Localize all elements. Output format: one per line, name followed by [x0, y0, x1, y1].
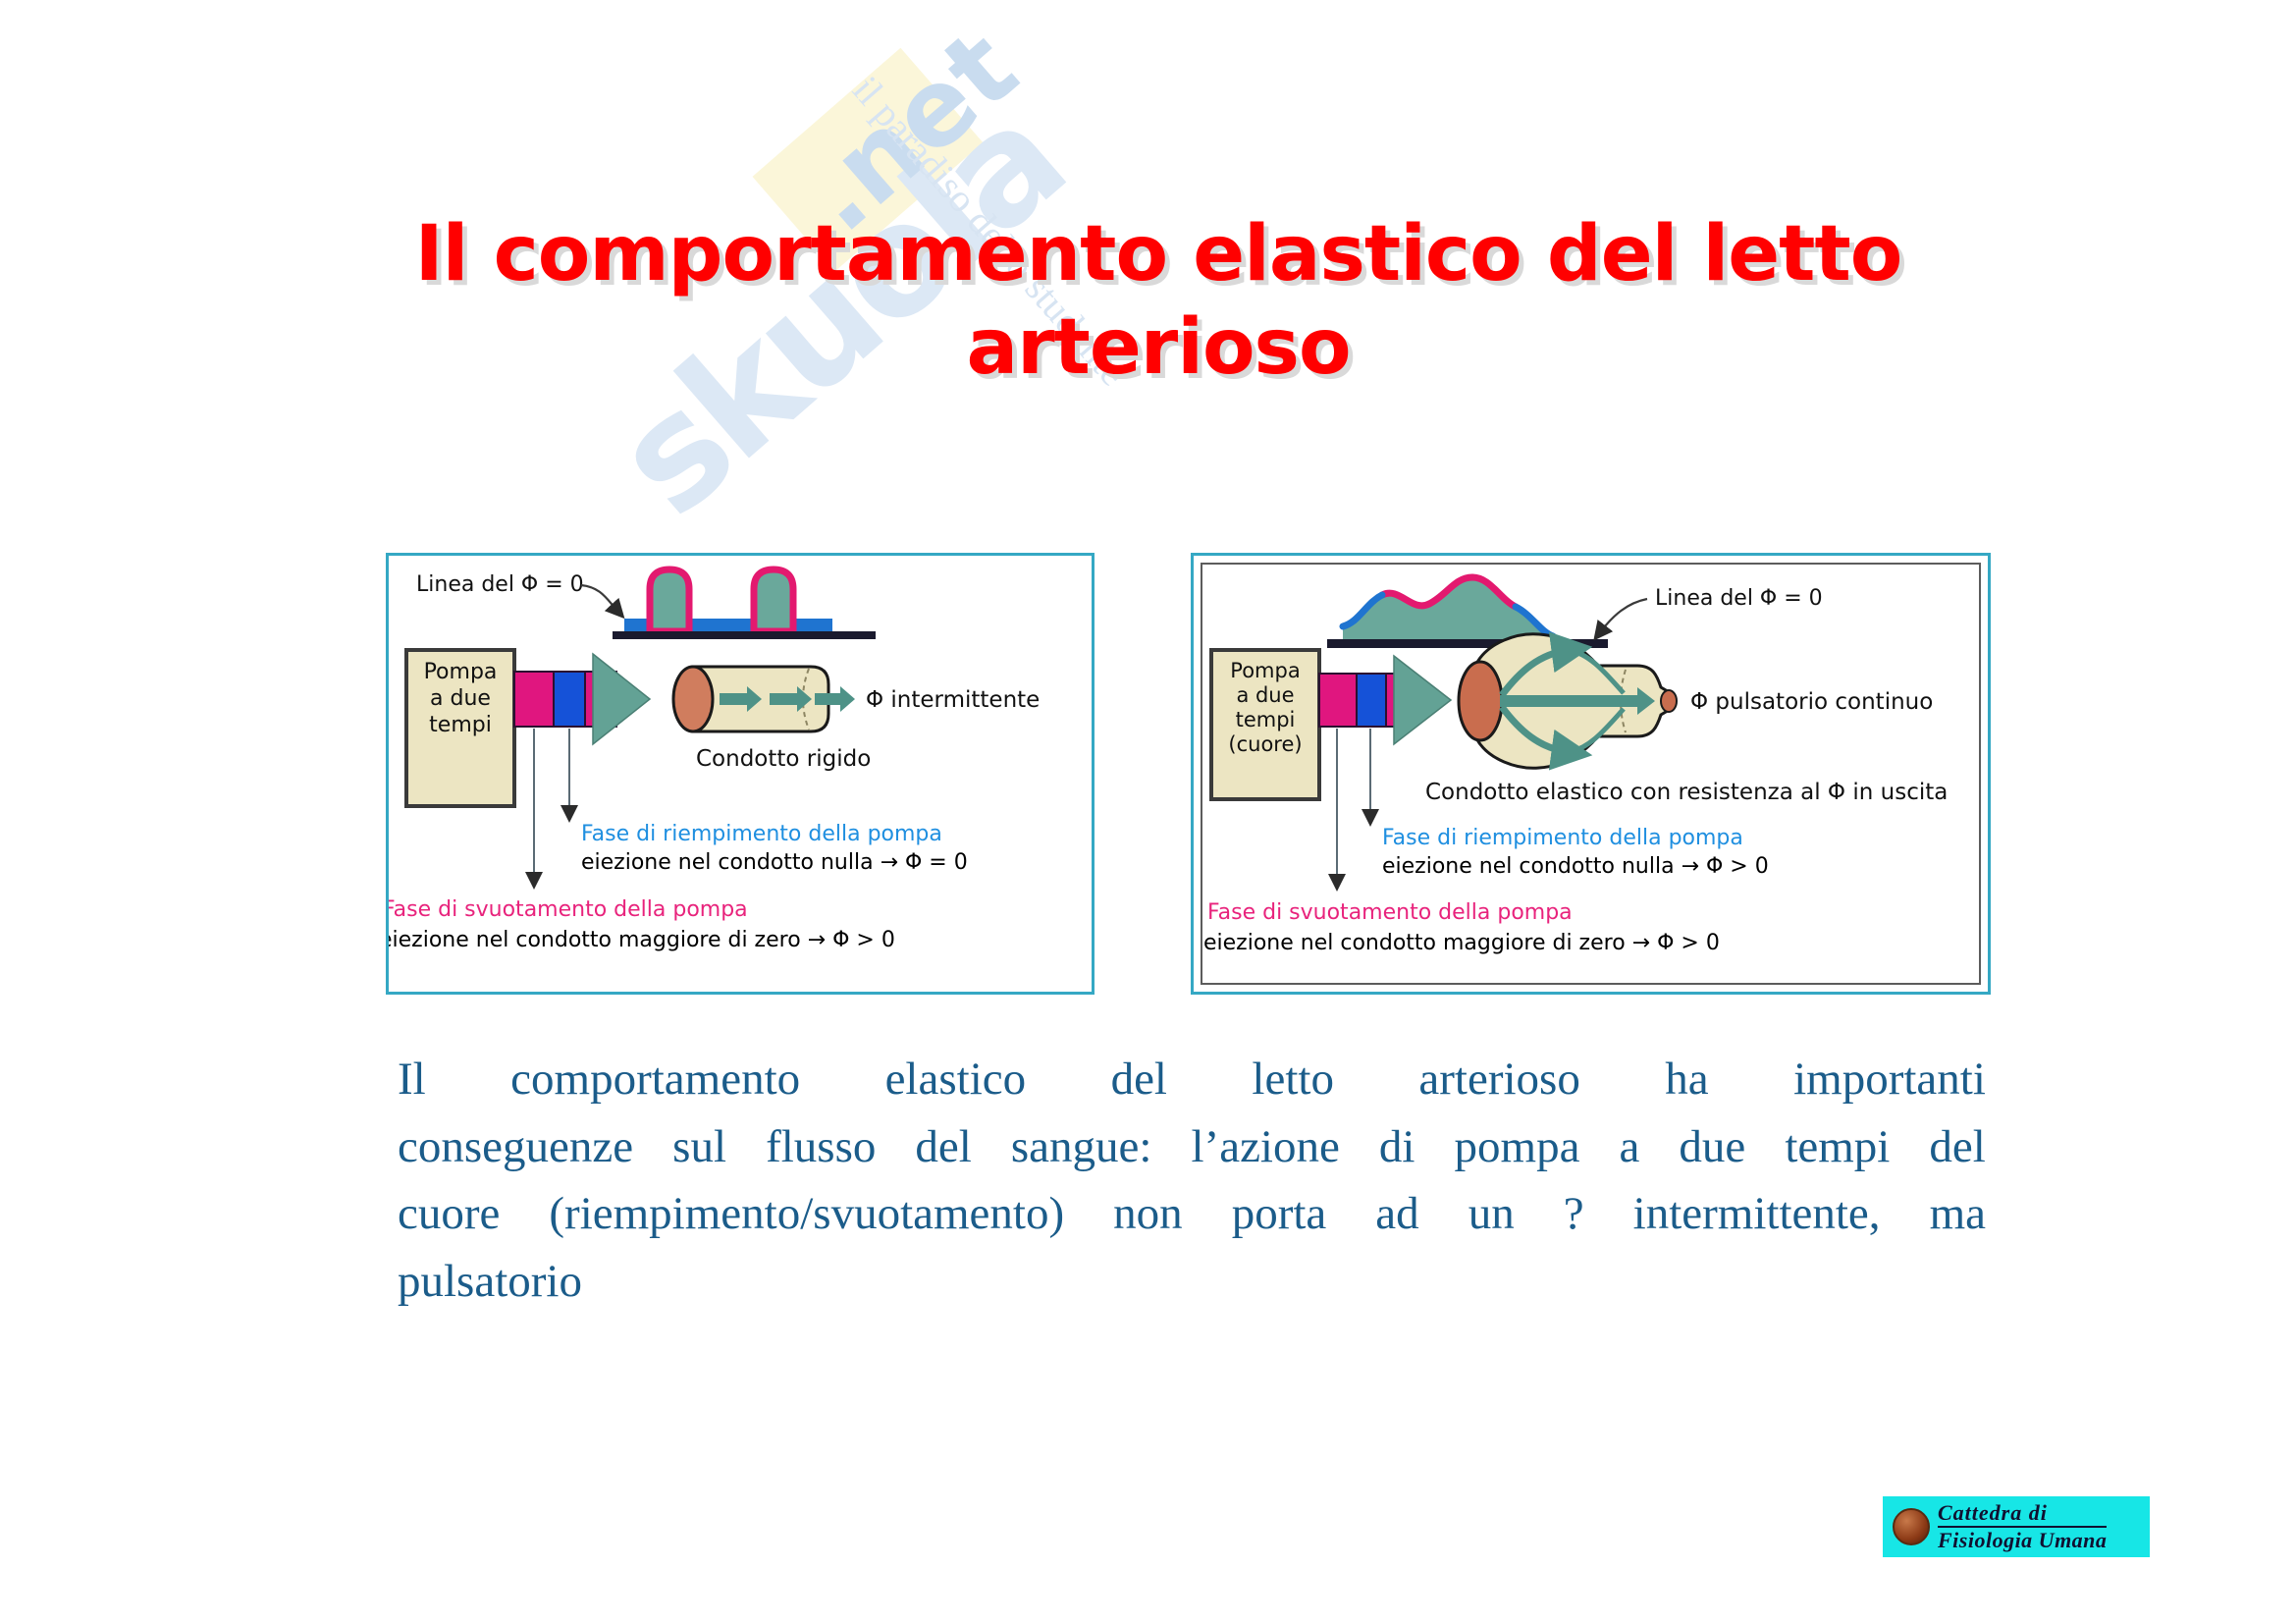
logo-line-2: Fisiologia Umana: [1938, 1528, 2107, 1553]
pump-label-line-2-right: a due: [1236, 683, 1294, 707]
conduit-outlet-cap-right: [1661, 690, 1677, 712]
pump-label-line-3-left: tempi: [429, 713, 492, 737]
pump-label-line-1-right: Pompa: [1230, 659, 1300, 682]
emptying-phase-detail-left: eiezione nel condotto maggiore di zero →…: [389, 928, 895, 952]
filling-phase-detail-right: eiezione nel condotto nulla → Φ > 0: [1382, 854, 1769, 879]
pump-output-arrow-right: [1394, 656, 1451, 744]
filling-phase-detail-left: eiezione nel condotto nulla → Φ = 0: [581, 850, 968, 875]
filling-phase-heading-right: Fase di riempimento della pompa: [1382, 826, 1743, 850]
flow-zero-pointer-right: [1600, 599, 1647, 632]
page-title: Il comportamento elastico del letto arte…: [294, 208, 2022, 395]
flow-zero-pointer-left: [581, 585, 617, 611]
flow-zero-line-label-right: Linea del Φ = 0: [1655, 586, 1823, 611]
body-line-3: cuore(riempimento/svuotamento)nonportaad…: [398, 1180, 1986, 1248]
body-line-4: pulsatorio: [398, 1248, 1986, 1316]
emptying-phase-heading-right: Fase di svuotamento della pompa: [1207, 900, 1573, 925]
body-paragraph: Ilcomportamentoelasticodellettoarterioso…: [398, 1046, 1986, 1315]
flow-output-label-right: Φ pulsatorio continuo: [1690, 689, 1933, 715]
pump-output-arrow-left: [593, 654, 650, 744]
waveform-zero-baseline-left: [613, 631, 876, 639]
body-line-2: conseguenzesulflussodelsangue:l’azionedi…: [398, 1113, 1986, 1181]
waveform-pulse-1-left: [650, 569, 689, 631]
conduit-label-left: Condotto rigido: [696, 746, 871, 772]
phase-bar-filling-right: [1357, 674, 1386, 727]
diagram-panel-elastic-conduit: Linea del Φ = 0 Pompa a due tempi (cuore…: [1191, 553, 1991, 995]
emptying-phase-heading-left: Fase di svuotamento della pompa: [389, 897, 748, 922]
filling-phase-heading-left: Fase di riempimento della pompa: [581, 822, 942, 846]
conduit-inlet-cap-right: [1459, 662, 1502, 740]
conduit-inlet-cap-left: [673, 667, 713, 731]
phase-bar-emptying-1-left: [514, 672, 554, 727]
flow-output-label-left: Φ intermittente: [866, 687, 1040, 713]
waveform-pulse-2-left: [754, 569, 793, 631]
conduit-label-right: Condotto elastico con resistenza al Φ in…: [1425, 780, 1948, 805]
emptying-phase-detail-right: eiezione nel condotto maggiore di zero →…: [1203, 931, 1720, 955]
phase-bar-emptying-1-right: [1319, 674, 1357, 727]
department-logo: Cattedra di Fisiologia Umana: [1883, 1496, 2150, 1557]
pump-label-line-2-left: a due: [430, 686, 491, 711]
flow-zero-line-label-left: Linea del Φ = 0: [416, 572, 584, 597]
pump-label-line-4-right: (cuore): [1228, 732, 1302, 756]
phase-bar-filling-left: [554, 672, 585, 727]
logo-line-1: Cattedra di: [1938, 1500, 2107, 1528]
diagram-panel-rigid-conduit: Linea del Φ = 0 Pompa a due tempi Condot…: [386, 553, 1095, 995]
seal-icon: [1893, 1508, 1930, 1545]
pump-label-line-1-left: Pompa: [424, 660, 498, 684]
body-line-1: Ilcomportamentoelasticodellettoarterioso…: [398, 1046, 1986, 1113]
pump-label-line-3-right: tempi: [1236, 708, 1296, 731]
